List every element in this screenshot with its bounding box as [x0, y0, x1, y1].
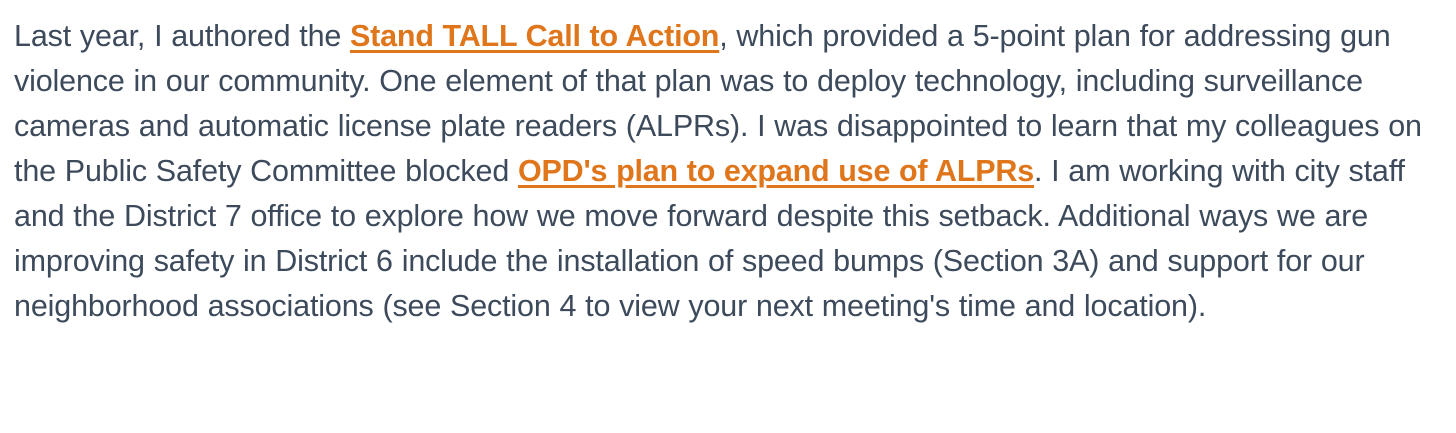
link-stand-tall-call-to-action[interactable]: Stand TALL Call to Action — [350, 19, 719, 53]
paragraph-segment-1: Last year, I authored the — [14, 19, 350, 53]
paragraph-block: Last year, I authored the Stand TALL Cal… — [0, 0, 1456, 433]
body-paragraph: Last year, I authored the Stand TALL Cal… — [14, 14, 1446, 329]
link-opd-plan-expand-alprs[interactable]: OPD's plan to expand use of ALPRs — [518, 154, 1034, 188]
